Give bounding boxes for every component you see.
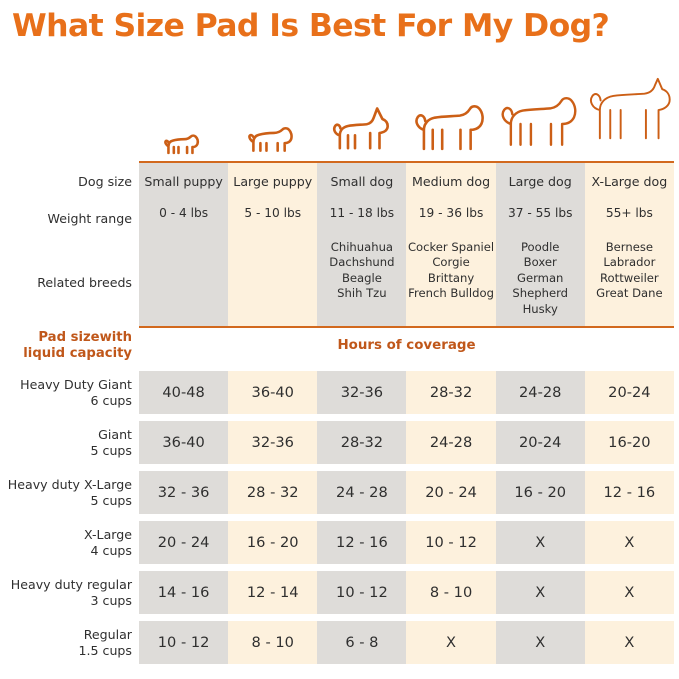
coverage-cell-heavy-duty-x-large-large-dog: 16 - 20 [496,471,585,514]
coverage-cell-heavy-duty-giant-small-dog: 32-36 [317,371,406,414]
coverage-cell-x-large-small-dog: 12 - 16 [317,521,406,564]
table-row: 10 - 128 - 106 - 8XXX [139,621,674,664]
label-pad-regular: Regular1.5 cups [0,627,132,658]
coverage-cell-x-large-large-dog: X [496,521,585,564]
hours-of-coverage-label: Hours of coverage [139,338,674,353]
table-row: 14 - 1612 - 1410 - 128 - 10XX [139,571,674,614]
coverage-cell-giant-large-dog: 20-24 [496,421,585,464]
coverage-cell-heavy-duty-regular-small-dog: 10 - 12 [317,571,406,614]
row-spacer [139,464,674,471]
coverage-cell-heavy-duty-giant-large-dog: 24-28 [496,371,585,414]
label-pad-heavy-duty-regular: Heavy duty regular3 cups [0,577,132,608]
label-pad-heavy-duty-regular-line: Heavy duty regular [0,577,132,593]
coverage-cell-giant-large-puppy: 32-36 [228,421,317,464]
breeds-cell-large-dog: PoodleBoxerGermanShepherdHusky [496,238,585,326]
breed-name: Brittany [406,271,495,286]
breeds-cell-small-dog: ChihuahuaDachshundBeagleShih Tzu [317,238,406,326]
label-pad-x-large-line: X-Large [0,527,132,543]
row-spacer [139,614,674,621]
dog-size-cell-x-large-dog: X-Large dog [585,163,674,199]
coverage-cell-giant-small-dog: 28-32 [317,421,406,464]
row-spacer [139,414,674,421]
breeds-cell-large-puppy [228,238,317,326]
breed-name: Beagle [317,271,406,286]
coverage-cell-x-large-medium-dog: 10 - 12 [406,521,495,564]
coverage-cell-x-large-large-puppy: 16 - 20 [228,521,317,564]
breed-name: Cocker Spaniel [406,240,495,255]
coverage-cell-heavy-duty-giant-large-puppy: 36-40 [228,371,317,414]
breed-name: Bernese [585,240,674,255]
breeds-cell-medium-dog: Cocker SpanielCorgieBrittanyFrench Bulld… [406,238,495,326]
label-weight-range: Weight range [0,211,132,226]
page-title: What Size Pad Is Best For My Dog? [12,6,672,46]
coverage-cell-heavy-duty-regular-x-large-dog: X [585,571,674,614]
weight-range-cell-medium-dog: 19 - 36 lbs [406,199,495,238]
dog-size-cell-large-dog: Large dog [496,163,585,199]
breed-name: German [496,271,585,286]
breed-name: French Bulldog [406,286,495,301]
coverage-cell-regular-medium-dog: X [406,621,495,664]
dog-size-cell-small-dog: Small dog [317,163,406,199]
coverage-cell-heavy-duty-x-large-x-large-dog: 12 - 16 [585,471,674,514]
coverage-cell-x-large-small-puppy: 20 - 24 [139,521,228,564]
pad-size-data-rows: 40-4836-4032-3628-3224-2820-2436-4032-36… [139,364,674,664]
label-pad-heavy-duty-giant: Heavy Duty Giant6 cups [0,377,132,408]
breeds-cell-x-large-dog: BerneseLabradorRottweilerGreat Dane [585,238,674,326]
weight-range-cell-small-puppy: 0 - 4 lbs [139,199,228,238]
label-pad-giant: Giant5 cups [0,427,132,458]
label-pad-heavy-duty-giant-line: 6 cups [0,393,132,409]
table-row: 40-4836-4032-3628-3224-2820-24 [139,371,674,414]
breed-name: Shih Tzu [317,286,406,301]
breed-name: Rottweiler [585,271,674,286]
label-pad-heavy-duty-x-large: Heavy duty X-Large5 cups [0,477,132,508]
label-pad-regular-line: 1.5 cups [0,643,132,659]
breed-name: Chihuahua [317,240,406,255]
label-pad-giant-line: 5 cups [0,443,132,459]
coverage-cell-regular-x-large-dog: X [585,621,674,664]
coverage-cell-giant-medium-dog: 24-28 [406,421,495,464]
label-related-breeds: Related breeds [0,275,132,290]
table-row: 20 - 2416 - 2012 - 1610 - 12XX [139,521,674,564]
dog-silhouette-small-dog [317,105,406,161]
dog-size-cell-large-puppy: Large puppy [228,163,317,199]
breed-name: Corgie [406,255,495,270]
coverage-cell-giant-x-large-dog: 16-20 [585,421,674,464]
breed-name: Boxer [496,255,585,270]
coverage-cell-heavy-duty-giant-medium-dog: 28-32 [406,371,495,414]
weight-range-cell-small-dog: 11 - 18 lbs [317,199,406,238]
row-spacer [139,564,674,571]
dog-silhouette-small-puppy [139,126,228,161]
label-pad-x-large: X-Large4 cups [0,527,132,558]
row-related-breeds: ChihuahuaDachshundBeagleShih TzuCocker S… [139,238,674,326]
dog-size-cell-small-puppy: Small puppy [139,163,228,199]
label-pad-heavy-duty-x-large-line: 5 cups [0,493,132,509]
table-row: 36-4032-3628-3224-2820-2416-20 [139,421,674,464]
label-pad-size-line: Pad size [38,330,99,345]
coverage-cell-x-large-x-large-dog: X [585,521,674,564]
dog-silhouette-large-puppy [228,116,317,161]
dog-silhouette-row [139,75,674,161]
row-spacer [139,364,674,371]
breed-name: Great Dane [585,286,674,301]
breed-name: Husky [496,302,585,317]
breed-name: Dachshund [317,255,406,270]
label-pad-size: Pad sizewith liquid capacity [0,330,132,362]
label-pad-x-large-line: 4 cups [0,543,132,559]
hours-of-coverage-band: Hours of coverage [139,328,674,364]
coverage-cell-heavy-duty-giant-small-puppy: 40-48 [139,371,228,414]
coverage-cell-heavy-duty-regular-medium-dog: 8 - 10 [406,571,495,614]
coverage-cell-heavy-duty-regular-large-puppy: 12 - 14 [228,571,317,614]
coverage-cell-heavy-duty-regular-small-puppy: 14 - 16 [139,571,228,614]
coverage-cell-regular-large-puppy: 8 - 10 [228,621,317,664]
row-dog-size: Small puppyLarge puppySmall dogMedium do… [139,163,674,199]
coverage-cell-heavy-duty-giant-x-large-dog: 20-24 [585,371,674,414]
coverage-cell-giant-small-puppy: 36-40 [139,421,228,464]
dog-silhouette-x-large-dog [585,65,674,161]
breed-name: Shepherd [496,286,585,301]
coverage-cell-heavy-duty-x-large-medium-dog: 20 - 24 [406,471,495,514]
row-spacer [139,514,674,521]
coverage-cell-regular-small-dog: 6 - 8 [317,621,406,664]
label-pad-heavy-duty-regular-line: 3 cups [0,593,132,609]
breed-name: Labrador [585,255,674,270]
coverage-cell-heavy-duty-x-large-large-puppy: 28 - 32 [228,471,317,514]
label-pad-regular-line: Regular [0,627,132,643]
breed-name: Poodle [496,240,585,255]
coverage-cell-heavy-duty-x-large-small-puppy: 32 - 36 [139,471,228,514]
weight-range-cell-large-dog: 37 - 55 lbs [496,199,585,238]
row-weight-range: 0 - 4 lbs5 - 10 lbs11 - 18 lbs19 - 36 lb… [139,199,674,238]
coverage-cell-regular-small-puppy: 10 - 12 [139,621,228,664]
dog-pad-size-table: Small puppyLarge puppySmall dogMedium do… [139,75,674,664]
coverage-cell-regular-large-dog: X [496,621,585,664]
dog-silhouette-medium-dog [407,96,496,161]
label-pad-heavy-duty-x-large-line: Heavy duty X-Large [0,477,132,493]
breeds-cell-small-puppy [139,238,228,326]
dog-size-cell-medium-dog: Medium dog [406,163,495,199]
weight-range-cell-x-large-dog: 55+ lbs [585,199,674,238]
dog-silhouette-large-dog [496,84,585,161]
coverage-cell-heavy-duty-regular-large-dog: X [496,571,585,614]
table-row: 32 - 3628 - 3224 - 2820 - 2416 - 2012 - … [139,471,674,514]
label-pad-heavy-duty-giant-line: Heavy Duty Giant [0,377,132,393]
label-pad-giant-line: Giant [0,427,132,443]
coverage-cell-heavy-duty-x-large-small-dog: 24 - 28 [317,471,406,514]
label-dog-size: Dog size [0,174,132,189]
weight-range-cell-large-puppy: 5 - 10 lbs [228,199,317,238]
